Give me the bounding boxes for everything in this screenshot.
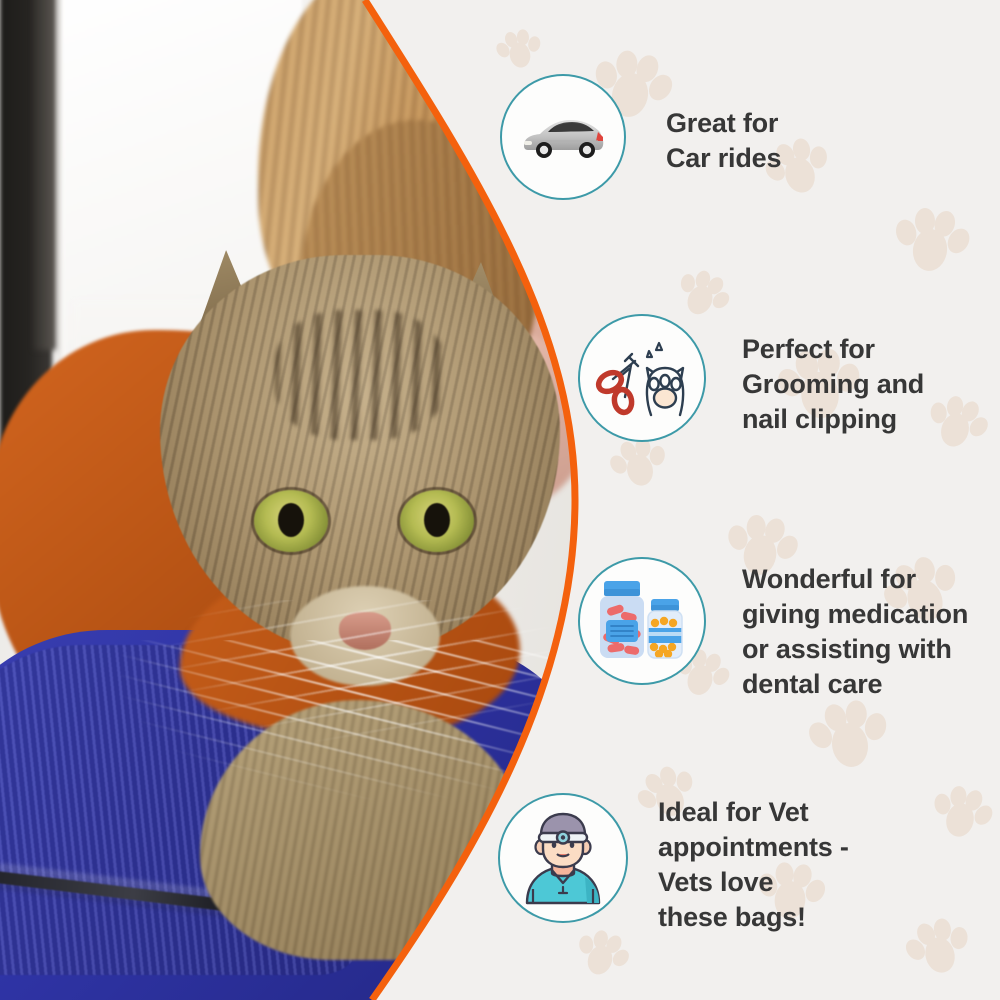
veterinarian-icon-circle bbox=[498, 793, 628, 923]
feature-label-car-rides: Great for Car rides bbox=[666, 106, 986, 176]
feature-label-medication: Wonderful for giving medication or assis… bbox=[742, 562, 1000, 702]
nail-clippers-paw-icon-circle bbox=[578, 314, 706, 442]
car-icon-circle bbox=[500, 74, 626, 200]
car-icon bbox=[520, 110, 606, 164]
feature-label-grooming: Perfect for Grooming and nail clipping bbox=[742, 332, 1000, 437]
nail-clippers-paw-icon bbox=[595, 335, 689, 421]
medicine-bottles-icon bbox=[594, 577, 690, 665]
feature-label-vet: Ideal for Vet appointments - Vets love t… bbox=[658, 795, 958, 935]
infographic-canvas: Great for Car rides bbox=[0, 0, 1000, 1000]
feature-list: Great for Car rides bbox=[0, 0, 1000, 1000]
medicine-bottles-icon-circle bbox=[578, 557, 706, 685]
veterinarian-icon bbox=[519, 811, 607, 905]
